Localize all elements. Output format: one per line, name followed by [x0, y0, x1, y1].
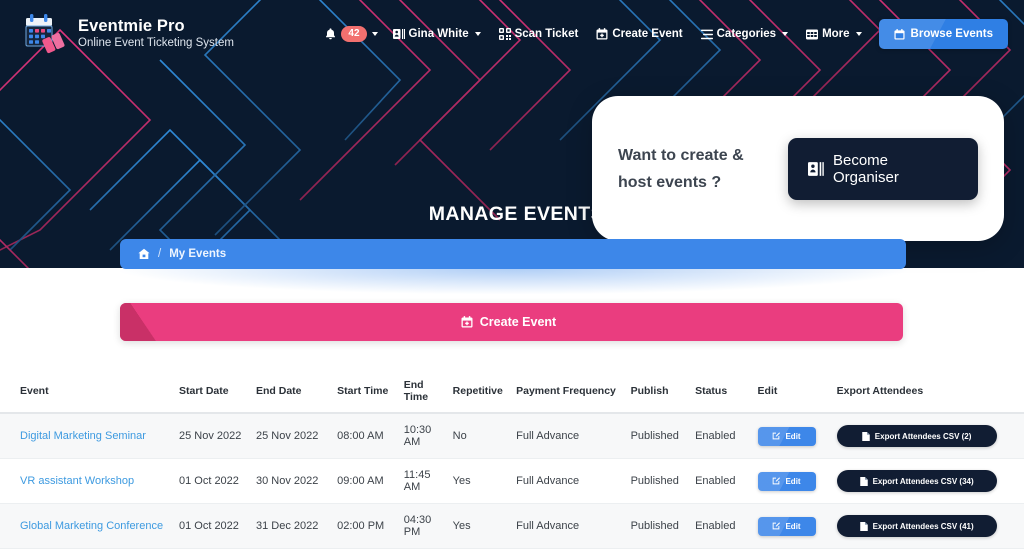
publish-cell: Published — [631, 504, 696, 549]
edit-button-label: Edit — [785, 477, 800, 486]
end-time-cell: 10:30 AM — [404, 413, 453, 459]
manage-events-page: Eventmie Pro Online Event Ticketing Syst… — [0, 0, 1024, 558]
brand-logo-block[interactable]: Eventmie Pro Online Event Ticketing Syst… — [20, 12, 234, 56]
edit-cell: Edit — [758, 459, 837, 504]
column-header-start-date: Start Date — [179, 371, 256, 413]
events-table-container: Event Start Date End Date Start Time End… — [0, 371, 1024, 558]
events-table: Event Start Date End Date Start Time End… — [0, 371, 1024, 558]
start-time-cell: 08:00 AM — [337, 413, 404, 459]
edit-button-label: Edit — [785, 522, 800, 531]
status-cell: Enabled — [695, 413, 757, 459]
payment-frequency-cell: Full Advance — [516, 549, 630, 558]
nav-item-more[interactable]: More — [797, 22, 870, 46]
end-time-cell: 01:00 PM — [404, 549, 453, 558]
column-header-event: Event — [0, 371, 179, 413]
event-name-cell: VR assistant Workshop — [0, 459, 179, 504]
event-name-link[interactable]: Digital Marketing Seminar — [20, 430, 146, 442]
edit-cell: Edit — [758, 413, 837, 459]
promo-line-2: host events ? — [618, 169, 788, 196]
edit-cell: Edit — [758, 504, 837, 549]
calendar-icon — [894, 29, 905, 40]
column-header-edit: Edit — [758, 371, 837, 413]
export-attendees-button[interactable]: Export Attendees CSV (34) — [837, 470, 997, 492]
file-icon — [860, 477, 868, 486]
nav-item-label: Create Event — [612, 28, 682, 40]
event-name-cell: Global Marketing Conference — [0, 504, 179, 549]
table-row: VR assistant Workshop01 Oct 202230 Nov 2… — [0, 459, 1024, 504]
end-time-cell: 04:30 PM — [404, 504, 453, 549]
column-header-end-date: End Date — [256, 371, 337, 413]
export-cell: Export Attendees CSV (34) — [837, 459, 1024, 504]
user-badge-icon — [393, 28, 405, 40]
start-time-cell: 08:00 AM — [337, 549, 404, 558]
status-cell: Enabled — [695, 504, 757, 549]
start-date-cell: 15 Nov 2022 — [179, 549, 256, 558]
create-event-label-wrap: Create Event — [461, 315, 562, 329]
organiser-icon — [808, 161, 824, 177]
create-event-button[interactable]: Create Event — [120, 303, 903, 341]
top-navigation-bar: Eventmie Pro Online Event Ticketing Syst… — [0, 0, 1024, 68]
status-cell: Enabled — [695, 459, 757, 504]
edit-button-label: Edit — [785, 432, 800, 441]
table-header-row: Event Start Date End Date Start Time End… — [0, 371, 1024, 413]
column-header-publish: Publish — [631, 371, 696, 413]
calendar-ticket-icon — [20, 12, 66, 56]
qr-scan-icon — [499, 28, 511, 40]
start-date-cell: 01 Oct 2022 — [179, 459, 256, 504]
payment-frequency-cell: Full Advance — [516, 413, 630, 459]
table-row: Digital Marketing Seminar25 Nov 202225 N… — [0, 413, 1024, 459]
event-name-link[interactable]: Global Marketing Conference — [20, 520, 163, 532]
list-icon — [701, 29, 713, 40]
export-cell: Export Attendees CSV (0) — [837, 549, 1024, 558]
chevron-down-icon — [475, 32, 481, 36]
publish-cell: Published — [631, 459, 696, 504]
nav-links: 42 Gina White — [316, 19, 1008, 49]
table-body: Digital Marketing Seminar25 Nov 202225 N… — [0, 413, 1024, 558]
become-organiser-card: Want to create & host events ? Become Or… — [592, 96, 1004, 241]
export-attendees-button[interactable]: Export Attendees CSV (41) — [837, 515, 997, 537]
column-header-export-attendees: Export Attendees — [837, 371, 1024, 413]
calendar-plus-icon — [596, 28, 608, 40]
nav-item-label: More — [822, 28, 849, 40]
create-event-label: Create Event — [480, 315, 556, 329]
page-title: MANAGE EVENTS — [429, 203, 604, 226]
nav-item-label: Gina White — [409, 28, 469, 40]
end-date-cell: 15 Nov 2022 — [256, 549, 337, 558]
home-icon[interactable] — [138, 248, 150, 260]
grid-icon — [806, 29, 818, 40]
payment-frequency-cell: Full Advance — [516, 459, 630, 504]
file-icon — [862, 432, 870, 441]
breadcrumb: / My Events — [120, 239, 906, 269]
table-row: Global Marketing Conference01 Oct 202231… — [0, 504, 1024, 549]
become-organiser-label: Become Organiser — [833, 152, 958, 186]
nav-item-categories[interactable]: Categories — [692, 22, 797, 46]
start-date-cell: 25 Nov 2022 — [179, 413, 256, 459]
column-header-start-time: Start Time — [337, 371, 404, 413]
publish-cell: Published — [631, 549, 696, 558]
chevron-down-icon — [856, 32, 862, 36]
pencil-square-icon — [772, 477, 780, 485]
notifications-button[interactable]: 42 — [316, 20, 383, 48]
column-header-end-time: End Time — [404, 371, 453, 413]
browse-events-label: Browse Events — [911, 28, 993, 40]
notification-count-badge: 42 — [341, 26, 366, 42]
pencil-square-icon — [772, 522, 780, 530]
file-icon — [860, 522, 868, 531]
bell-icon — [325, 28, 336, 40]
column-header-repetitive: Repetitive — [453, 371, 516, 413]
brand-title: Eventmie Pro — [78, 17, 234, 36]
export-attendees-button[interactable]: Export Attendees CSV (2) — [837, 425, 997, 447]
publish-cell: Published — [631, 413, 696, 459]
end-date-cell: 25 Nov 2022 — [256, 413, 337, 459]
table-head: Event Start Date End Date Start Time End… — [0, 371, 1024, 413]
pencil-square-icon — [772, 432, 780, 440]
chevron-down-icon — [782, 32, 788, 36]
start-time-cell: 02:00 PM — [337, 504, 404, 549]
breadcrumb-glow — [120, 268, 906, 294]
end-date-cell: 30 Nov 2022 — [256, 459, 337, 504]
browse-events-button[interactable]: Browse Events — [879, 19, 1008, 49]
event-name-link[interactable]: VR assistant Workshop — [20, 475, 134, 487]
edit-button[interactable]: Edit — [758, 427, 816, 446]
calendar-plus-icon — [461, 316, 473, 328]
nav-item-create-event[interactable]: Create Event — [587, 22, 691, 46]
repetitive-cell: Yes — [453, 459, 516, 504]
column-header-payment-frequency: Payment Frequency — [516, 371, 630, 413]
start-time-cell: 09:00 AM — [337, 459, 404, 504]
export-attendees-label: Export Attendees CSV (41) — [873, 522, 974, 531]
promo-line-1: Want to create & — [618, 142, 788, 169]
repetitive-cell: No — [453, 549, 516, 558]
edit-cell: Edit — [758, 549, 837, 558]
export-attendees-label: Export Attendees CSV (2) — [875, 432, 972, 441]
breadcrumb-separator: / — [158, 248, 161, 260]
start-date-cell: 01 Oct 2022 — [179, 504, 256, 549]
end-date-cell: 31 Dec 2022 — [256, 504, 337, 549]
chevron-down-icon — [372, 32, 378, 36]
nav-item-scan-ticket[interactable]: Scan Ticket — [490, 22, 588, 46]
nav-item-label: Categories — [717, 28, 776, 40]
table-row: College Fresher party15 Nov 202215 Nov 2… — [0, 549, 1024, 558]
repetitive-cell: No — [453, 413, 516, 459]
column-header-status: Status — [695, 371, 757, 413]
export-cell: Export Attendees CSV (41) — [837, 504, 1024, 549]
promo-text: Want to create & host events ? — [618, 142, 788, 196]
edit-button[interactable]: Edit — [758, 472, 816, 491]
become-organiser-button[interactable]: Become Organiser — [788, 138, 978, 200]
nav-item-gina-white[interactable]: Gina White — [384, 22, 490, 46]
event-name-cell: Digital Marketing Seminar — [0, 413, 179, 459]
brand-subtitle: Online Event Ticketing System — [78, 36, 234, 51]
nav-item-label: Scan Ticket — [515, 28, 579, 40]
end-time-cell: 11:45 AM — [404, 459, 453, 504]
repetitive-cell: Yes — [453, 504, 516, 549]
export-attendees-label: Export Attendees CSV (34) — [873, 477, 974, 486]
status-cell: Enabled — [695, 549, 757, 558]
event-name-cell: College Fresher party — [0, 549, 179, 558]
payment-frequency-cell: Full Advance — [516, 504, 630, 549]
breadcrumb-current[interactable]: My Events — [169, 248, 226, 260]
edit-button[interactable]: Edit — [758, 517, 816, 536]
export-cell: Export Attendees CSV (2) — [837, 413, 1024, 459]
